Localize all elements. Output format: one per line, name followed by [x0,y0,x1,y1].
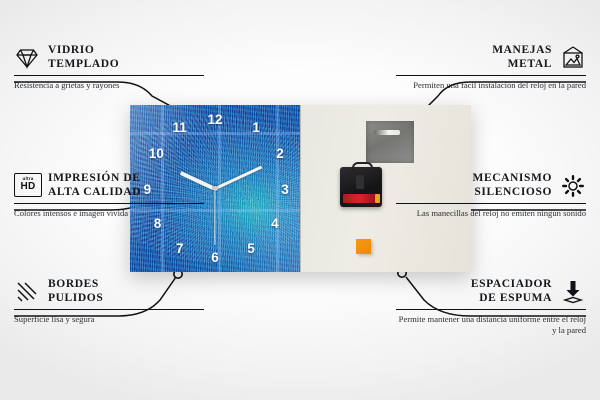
clock-numeral: 2 [276,147,284,161]
movement-shaft [356,175,364,189]
feature-description: Superficie lisa y segura [14,314,204,325]
wall-frame-icon [560,45,586,71]
feature-vidrio-templado: VIDRIOTEMPLADO Resistencia a grietas y r… [14,44,204,91]
feature-description: Permiten una fácil instalación del reloj… [396,80,586,91]
feature-description: Las manecillas del reloj no emiten ningú… [396,208,586,219]
feature-impresion-alta-calidad: ultra HD IMPRESIÓN DEALTA CALIDAD Colore… [14,172,204,219]
aa-battery [343,194,376,203]
polished-edges-icon [14,279,40,305]
clock-numeral: 4 [271,217,279,231]
metal-hanger-plate [366,121,414,163]
feature-divider [396,75,586,76]
clock-movement [340,167,382,207]
feature-mecanismo-silencioso: MECANISMOSILENCIOSO Las manecillas del r… [396,172,586,219]
foam-spacer-icon [560,279,586,305]
feature-divider [396,203,586,204]
hanger-loop [352,162,373,172]
hanger-slot [374,130,400,135]
foam-spacer-pad [356,239,371,254]
clock-numeral: 12 [207,113,222,127]
feature-title: MANEJASMETAL [492,44,552,71]
infographic-stage: 12 1 2 3 4 5 6 7 8 9 10 11 [0,0,600,400]
clock-numeral: 10 [149,147,164,161]
gear-icon [560,173,586,199]
feature-title: IMPRESIÓN DEALTA CALIDAD [48,172,141,199]
diamond-icon [14,45,40,71]
clock-center-cap [213,186,218,191]
ultra-hd-icon: ultra HD [14,173,40,199]
clock-numeral: 6 [211,251,219,265]
feature-divider [14,203,204,204]
battery-tip [375,194,380,203]
clock-numeral: 1 [252,121,260,135]
clock-numeral: 7 [176,242,184,256]
feature-manejas-metal: MANEJASMETAL Permiten una fácil instalac… [396,44,586,91]
clock-numeral: 11 [173,121,187,135]
feature-bordes-pulidos: BORDESPULIDOS Superficie lisa y segura [14,278,204,325]
feature-divider [14,309,204,310]
clock-numeral: 5 [247,242,255,256]
feature-description: Permite mantener una distancia uniforme … [396,314,586,337]
feature-description: Colores intensos e imagen vívida [14,208,204,219]
feature-divider [14,75,204,76]
feature-divider [396,309,586,310]
feature-title: VIDRIOTEMPLADO [48,44,119,71]
feature-title: MECANISMOSILENCIOSO [472,172,552,199]
feature-description: Resistencia a grietas y rayones [14,80,204,91]
feature-espaciador-de-espuma: ESPACIADORDE ESPUMA Permite mantener una… [396,278,586,337]
feature-title: BORDESPULIDOS [48,278,103,305]
feature-title: ESPACIADORDE ESPUMA [471,278,552,305]
clock-numeral: 3 [281,183,289,197]
